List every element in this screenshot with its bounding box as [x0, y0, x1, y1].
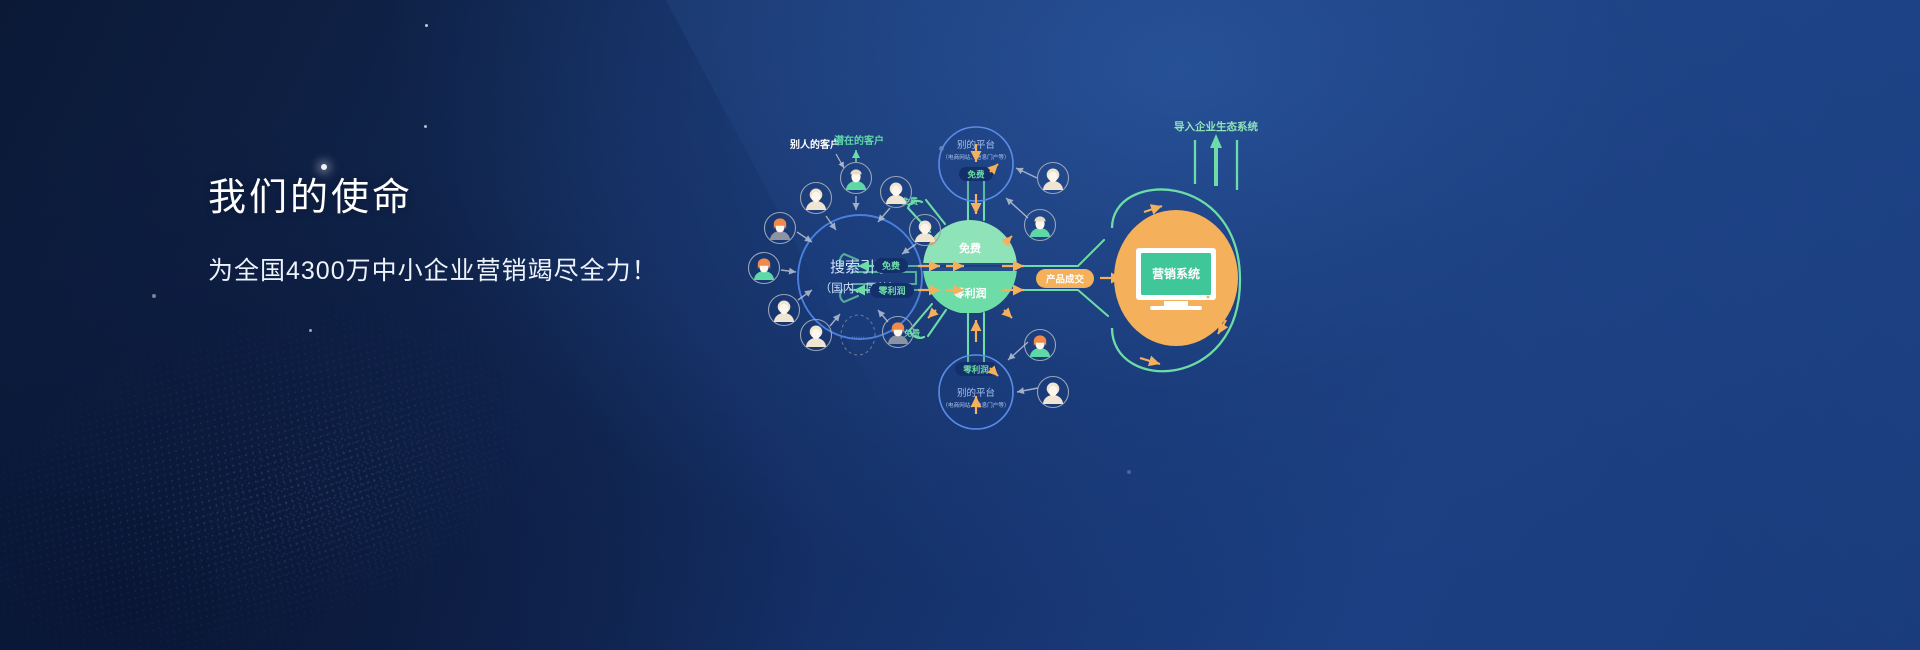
node-hub-top-label: 免费	[959, 241, 981, 255]
avatar[interactable]	[910, 215, 941, 246]
flow-tag-product-deal: 产品成交	[1036, 269, 1094, 288]
hero-banner: 我们的使命 为全国4300万中小企业营销竭尽全力！	[0, 0, 1920, 650]
label-others-customers: 别人的客户	[789, 138, 840, 151]
avatar[interactable]	[801, 183, 832, 214]
page-title: 我们的使命	[208, 175, 828, 223]
marketing-ecosystem-diagram: 搜索引擎 （国内、国外） 别的平台 （电商网站、信息门户等） 别的平台 （电商网…	[740, 120, 1300, 440]
node-platform-top[interactable]	[939, 127, 1013, 201]
avatar[interactable]	[765, 213, 796, 244]
flow-tag-free-rail: 免费	[874, 258, 908, 273]
avatar[interactable]	[881, 177, 912, 208]
decorative-dot	[309, 329, 312, 332]
avatar[interactable]	[769, 295, 800, 326]
hero-text-block: 我们的使命 为全国4300万中小企业营销竭尽全力！	[208, 175, 828, 287]
decorative-dot	[1127, 470, 1131, 474]
decorative-dot	[424, 125, 427, 128]
svg-text:免费: 免费	[904, 328, 920, 338]
flow-tag-zero-profit-rail: 零利润	[870, 283, 914, 298]
decorative-dot	[425, 24, 428, 27]
label-potential-customers: 潜在的客户	[834, 134, 884, 147]
decorative-dot	[152, 294, 156, 298]
svg-text:零利润: 零利润	[877, 285, 905, 296]
label-import-ecosystem: 导入企业生态系统	[1174, 120, 1258, 133]
node-search-engine[interactable]	[798, 215, 922, 339]
avatar[interactable]	[801, 320, 832, 351]
svg-text:零利润: 零利润	[962, 365, 989, 375]
avatar[interactable]	[1025, 330, 1056, 361]
avatar[interactable]	[1038, 377, 1069, 408]
svg-text:产品成交: 产品成交	[1046, 274, 1085, 286]
svg-text:······: ······	[851, 334, 865, 341]
decorative-dot-glowing	[321, 164, 327, 170]
avatar[interactable]	[749, 253, 780, 284]
page-subtitle: 为全国4300万中小企业营销竭尽全力！	[208, 251, 828, 287]
avatar[interactable]	[1038, 163, 1069, 194]
node-marketing-system-label: 营销系统	[1152, 266, 1200, 281]
svg-text:免费: 免费	[882, 260, 900, 271]
flow-tag-free-top-platform: 免费	[959, 167, 993, 181]
svg-text:免费: 免费	[967, 170, 985, 180]
flow-tag-free-lower-curl: 免费	[904, 328, 920, 338]
background-dot-mesh-inner	[43, 274, 638, 650]
avatar[interactable]	[1025, 210, 1056, 241]
avatar[interactable]	[841, 163, 872, 194]
node-hub-bottom-label: 零利润	[953, 286, 987, 300]
